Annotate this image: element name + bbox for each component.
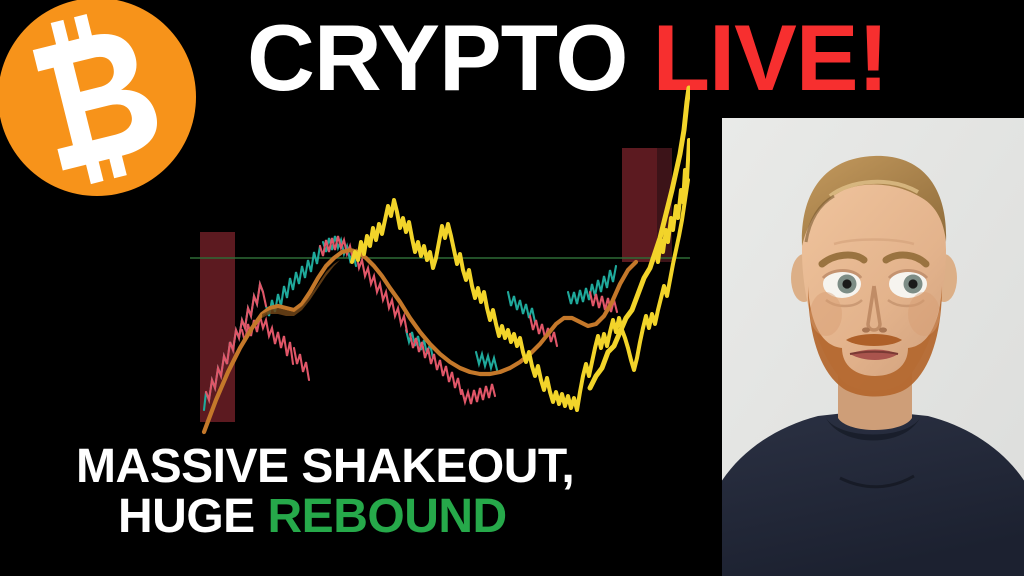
pupil-right (908, 279, 917, 288)
cheek-right (908, 292, 940, 336)
price-chart (190, 80, 690, 440)
right-rebound-band (622, 148, 657, 262)
bitcoin-logo-icon (0, 0, 196, 196)
caption-line-2-white: HUGE (118, 490, 268, 543)
price-chart-svg (190, 80, 690, 440)
cheek-left (810, 292, 842, 336)
host-portrait-illustration (722, 118, 1024, 576)
host-portrait (722, 118, 1024, 576)
caption-line-2-green: REBOUND (268, 490, 507, 543)
caption-line-1: MASSIVE SHAKEOUT, (76, 442, 676, 492)
thumbnail-canvas: CRYPTO LIVE! (0, 0, 1024, 576)
bitcoin-logo (0, 0, 196, 196)
nostril-right (879, 327, 887, 332)
nostril-left (862, 327, 870, 332)
pupil-left (842, 279, 851, 288)
caption-block: MASSIVE SHAKEOUT, HUGE REBOUND (76, 442, 676, 542)
caption-line-2: HUGE REBOUND (76, 492, 676, 542)
